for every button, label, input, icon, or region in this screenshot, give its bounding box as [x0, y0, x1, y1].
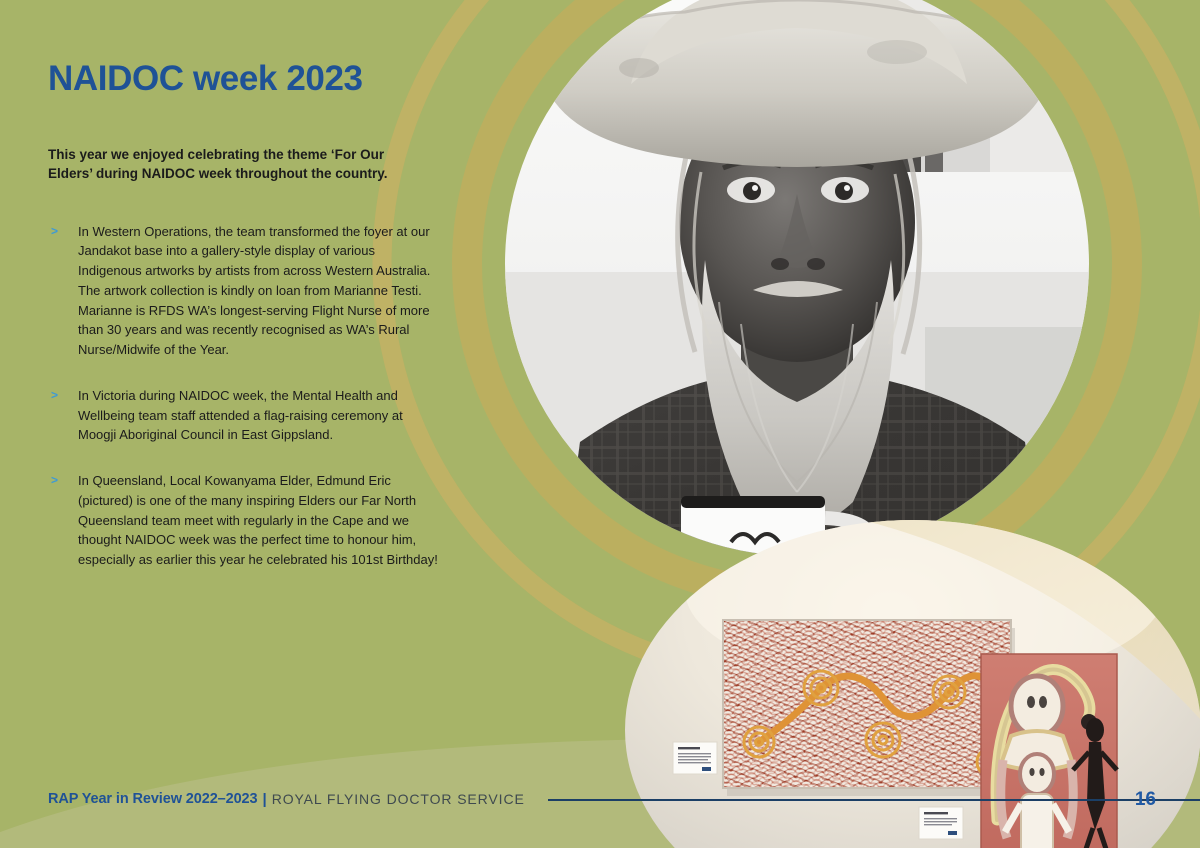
footer-title: RAP Year in Review 2022–2023	[48, 791, 257, 807]
wall-label-right	[919, 807, 963, 839]
page-title: NAIDOC week 2023	[48, 60, 440, 99]
list-item: > In Queensland, Local Kowanyama Elder, …	[48, 471, 440, 570]
list-item-text: In Victoria during NAIDOC week, the Ment…	[78, 388, 403, 443]
bullet-list: > In Western Operations, the team transf…	[48, 222, 440, 570]
wall-label-left	[673, 742, 717, 774]
chevron-right-icon: >	[51, 386, 58, 404]
elder-portrait-image	[505, 0, 1089, 556]
footer-subtitle: ROYAL FLYING DOCTOR SERVICE	[272, 791, 525, 807]
easel-artwork	[969, 654, 1125, 848]
list-item-text: In Western Operations, the team transfor…	[78, 224, 430, 358]
list-item: > In Western Operations, the team transf…	[48, 222, 440, 360]
wall-painting	[723, 620, 1015, 796]
page-number: 16	[1135, 790, 1156, 809]
document-page: NAIDOC week 2023 This year we enjoyed ce…	[0, 0, 1200, 848]
footer-divider: |	[262, 791, 266, 808]
chevron-right-icon: >	[51, 222, 58, 240]
elder-portrait-photo	[505, 0, 1089, 556]
intro-paragraph: This year we enjoyed celebrating the the…	[48, 145, 393, 184]
list-item: > In Victoria during NAIDOC week, the Me…	[48, 386, 440, 445]
article-body: NAIDOC week 2023 This year we enjoyed ce…	[48, 60, 440, 570]
footer: RAP Year in Review 2022–2023 | ROYAL FLY…	[48, 788, 1200, 810]
list-item-text: In Queensland, Local Kowanyama Elder, Ed…	[78, 473, 438, 567]
chevron-right-icon: >	[51, 471, 58, 489]
